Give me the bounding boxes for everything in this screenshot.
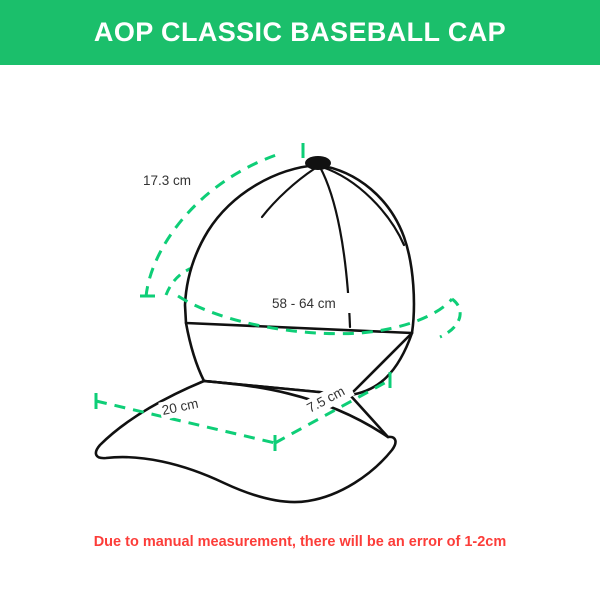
header-banner: AOP CLASSIC BASEBALL CAP <box>0 0 600 65</box>
crown-button <box>305 156 331 170</box>
cap-diagram-svg: 17.3 cm <box>0 65 600 520</box>
cap-diagram: 17.3 cm <box>0 65 600 520</box>
circumference-label: 58 - 64 cm <box>272 296 336 311</box>
brim-outline <box>96 381 396 502</box>
cap-brim <box>96 381 396 502</box>
crown-height-label: 17.3 cm <box>143 173 191 188</box>
size-chart-page: AOP CLASSIC BASEBALL CAP 17.3 cm <box>0 0 600 600</box>
circumference-back-arc <box>440 299 460 337</box>
page-title: AOP CLASSIC BASEBALL CAP <box>94 19 506 46</box>
measurement-disclaimer: Due to manual measurement, there will be… <box>0 534 600 551</box>
